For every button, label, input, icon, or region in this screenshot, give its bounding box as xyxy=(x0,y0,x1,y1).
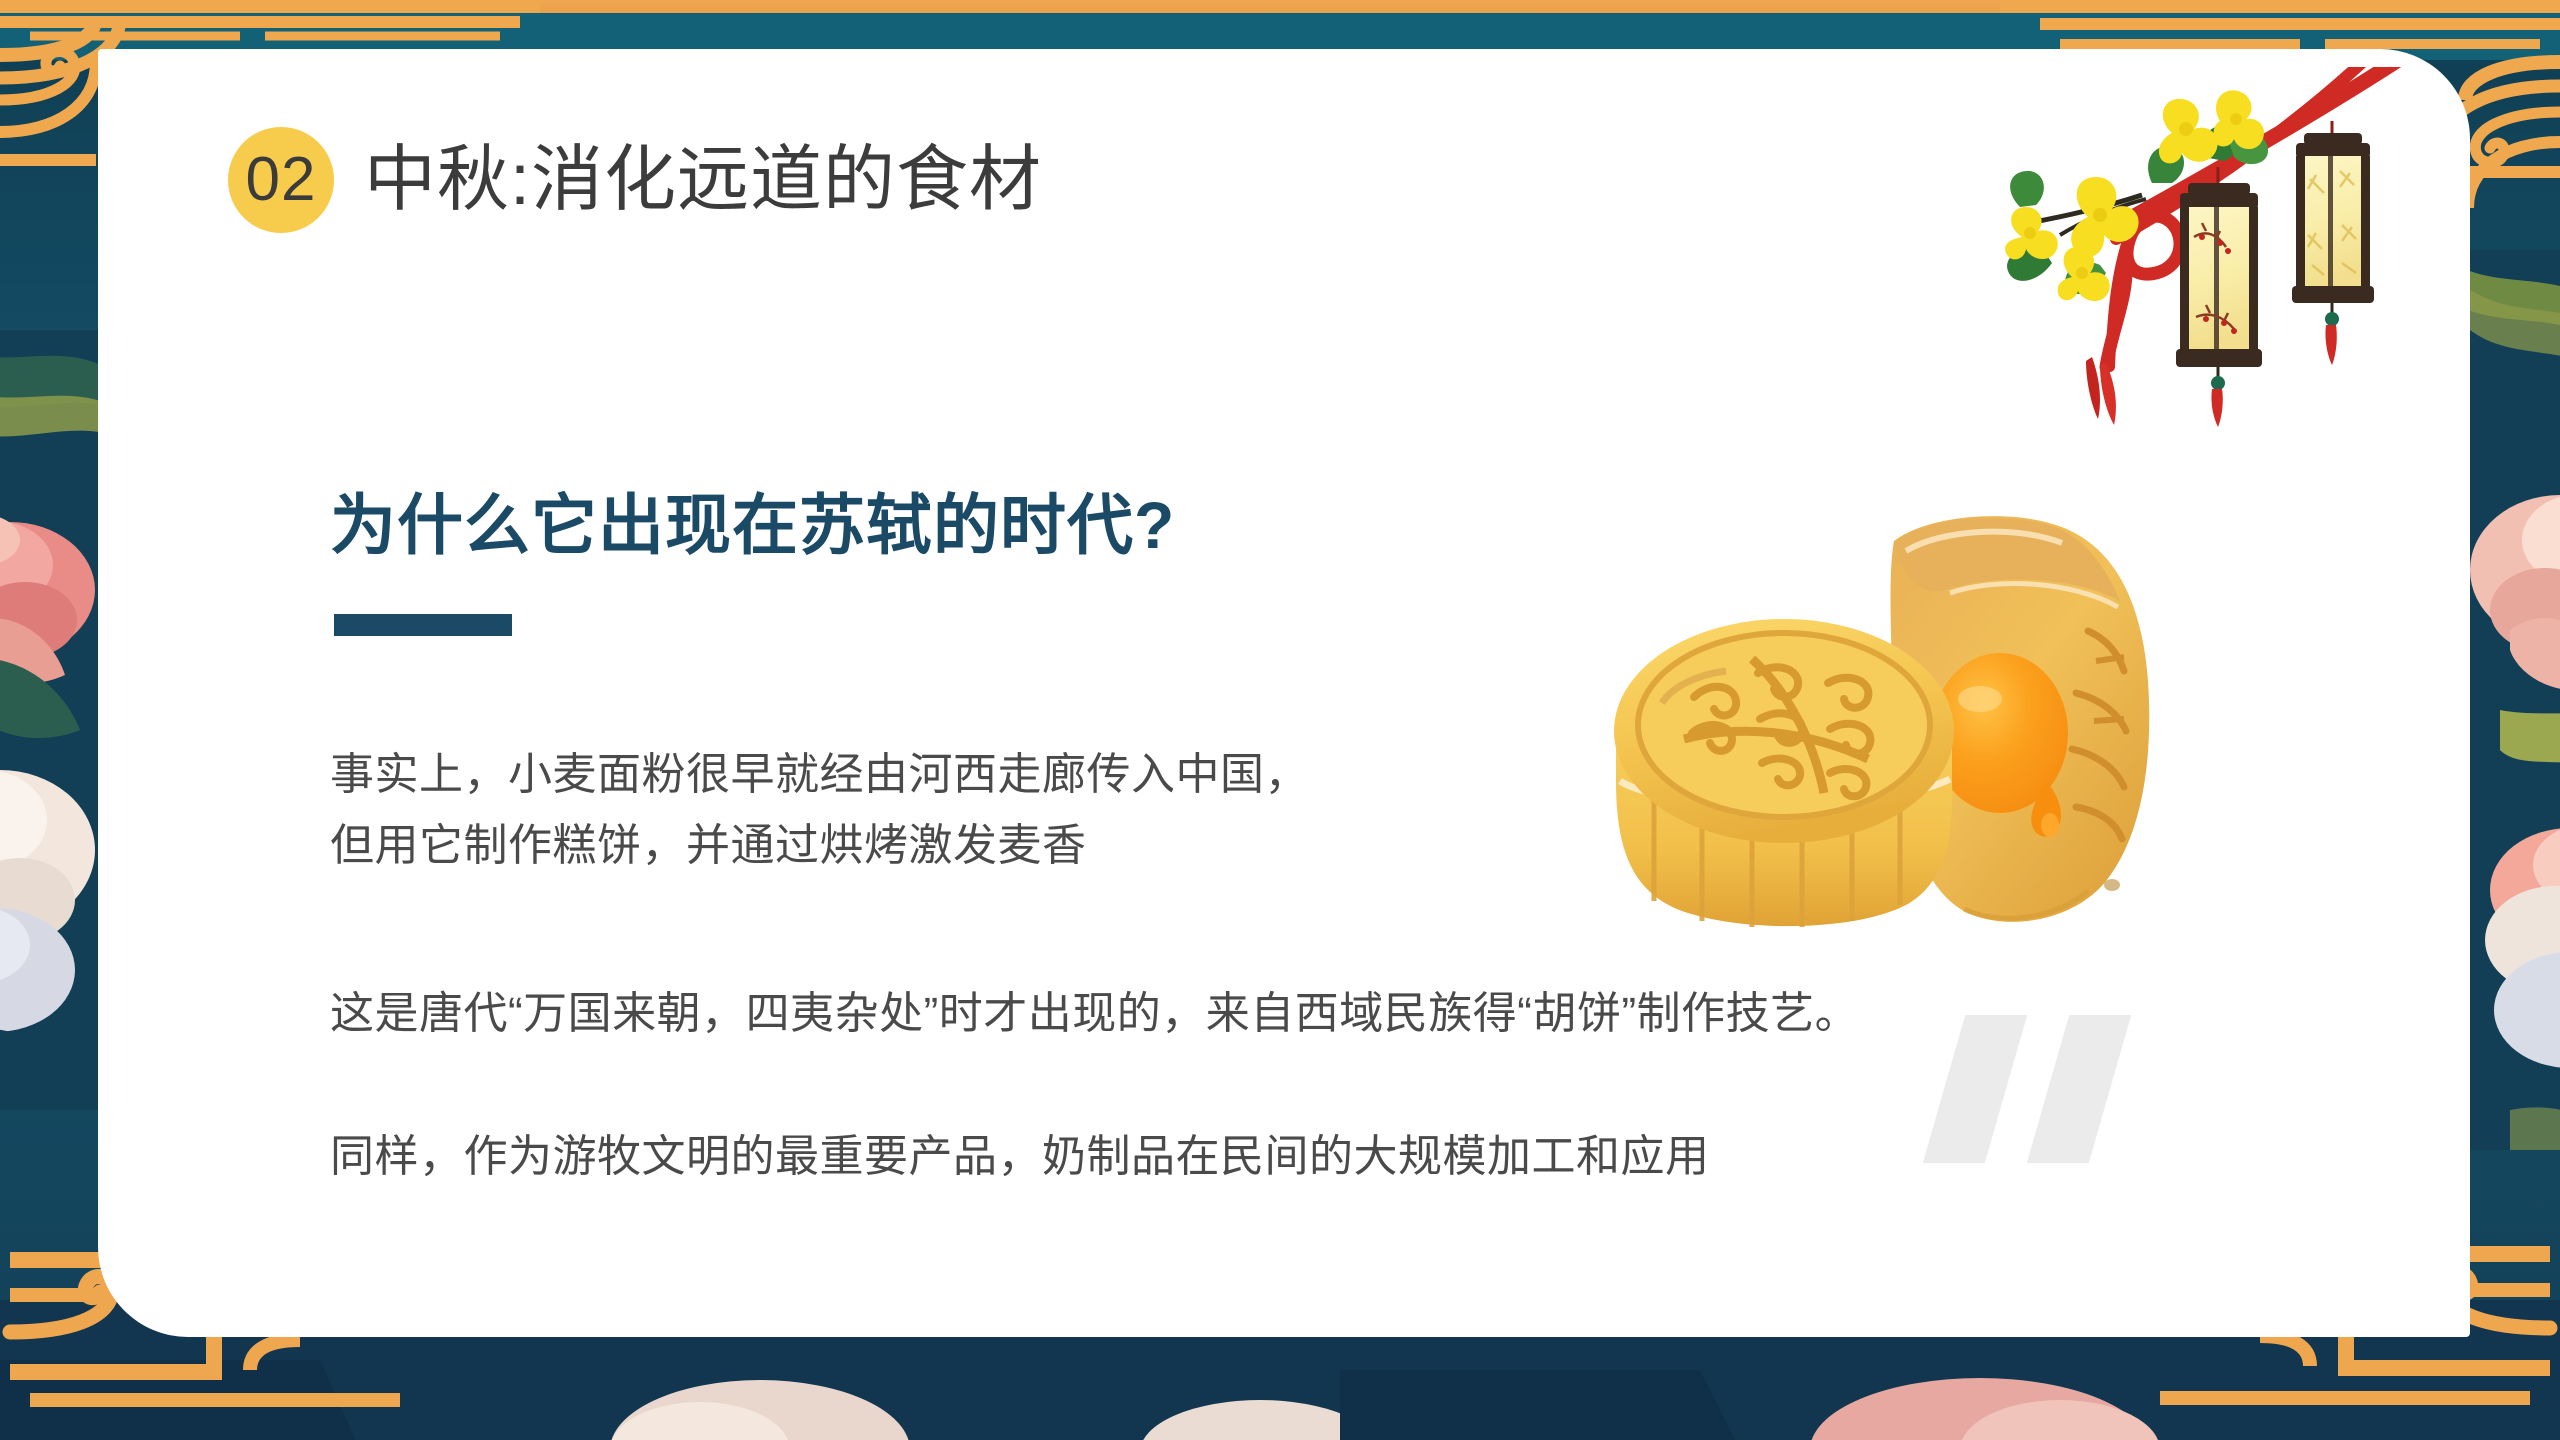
section-number-label: 02 xyxy=(246,149,317,211)
page-title: 中秋:消化远道的食材 xyxy=(364,144,1042,216)
top-gold-rule xyxy=(0,0,2560,13)
content-card-clip: 02 中秋:消化远道的食材 为什么它出现在苏轼的时代? 事实上，小麦面粉很早就经… xyxy=(98,49,2470,1337)
slide-header: 02 中秋:消化远道的食材 xyxy=(228,127,1042,233)
slide-canvas: 02 中秋:消化远道的食材 为什么它出现在苏轼的时代? 事实上，小麦面粉很早就经… xyxy=(0,0,2560,1440)
paragraph-line: 这是唐代“万国来朝，四夷杂处”时才出现的，来自西域民族得“胡饼”制作技艺。 xyxy=(330,978,2330,1049)
top-teal-band xyxy=(0,13,2560,49)
content-card: 02 中秋:消化远道的食材 为什么它出现在苏轼的时代? 事实上，小麦面粉很早就经… xyxy=(98,49,2470,1337)
hanging-lantern-icon xyxy=(1966,67,2406,427)
mooncake-icon xyxy=(1576,481,2176,971)
heading-underline-rule xyxy=(334,614,512,636)
paragraph-line: 同样，作为游牧文明的最重要产品，奶制品在民间的大规模加工和应用 xyxy=(330,1121,2330,1192)
section-number-badge: 02 xyxy=(228,127,334,233)
section-heading: 为什么它出现在苏轼的时代? xyxy=(330,489,1175,562)
